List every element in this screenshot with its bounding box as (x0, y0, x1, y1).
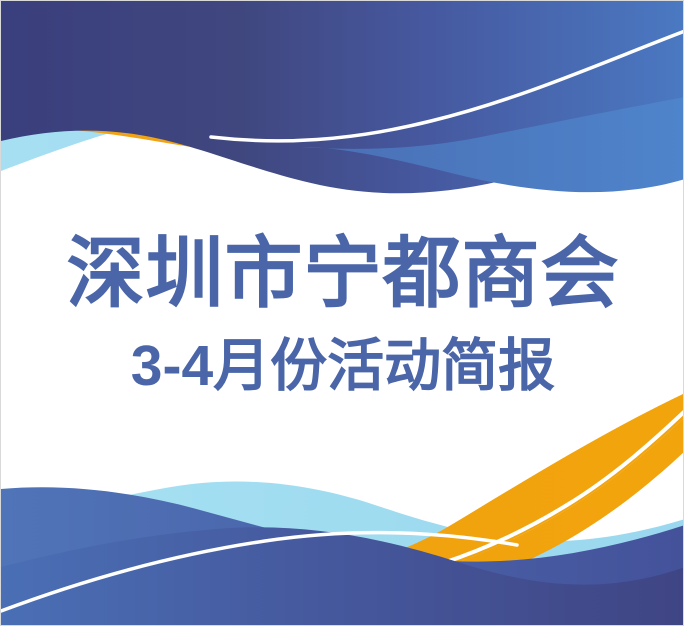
poster-canvas: 深圳市宁都商会 3-4月份活动简报 (0, 0, 684, 626)
decorative-wave-artwork (1, 1, 684, 626)
